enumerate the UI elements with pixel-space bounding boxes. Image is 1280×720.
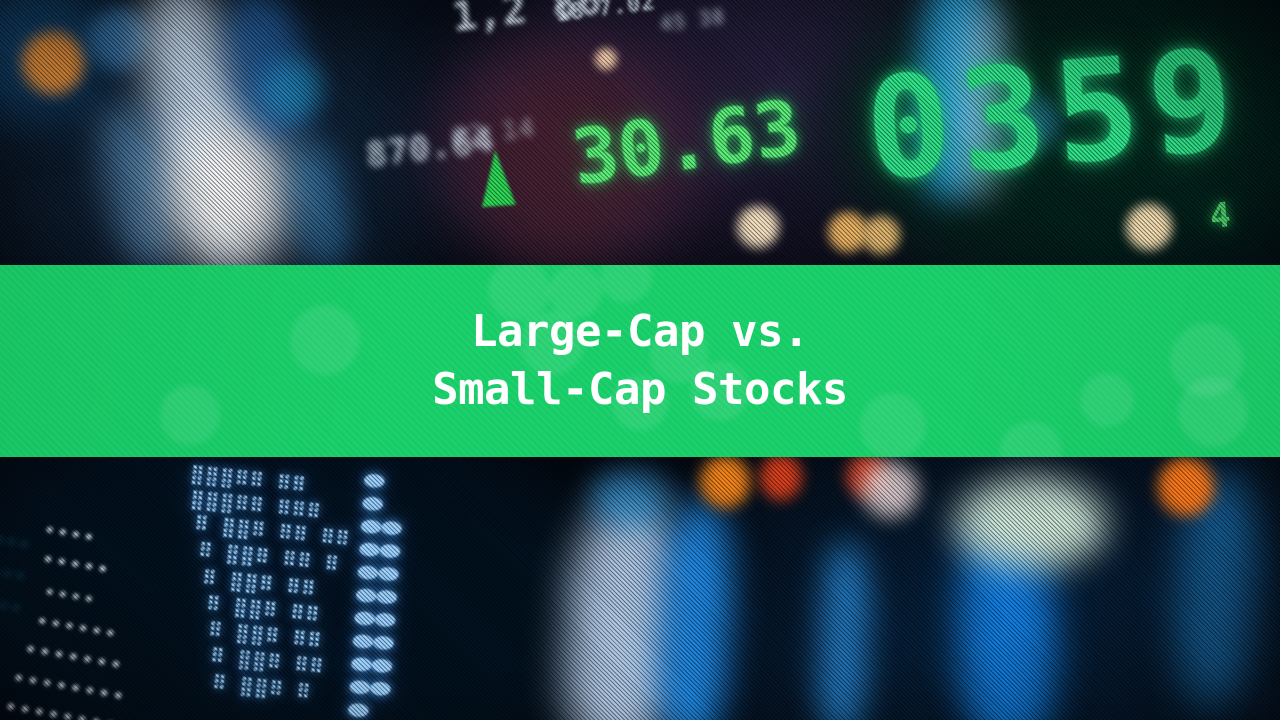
page-title: Large-Cap vs. Small-Cap Stocks <box>0 265 1280 457</box>
bokeh-white-dot-2 <box>737 206 779 248</box>
bokeh-white-dot-3 <box>1126 204 1172 250</box>
city-bokeh-orange-1 <box>700 456 750 508</box>
city-bokeh-orange-2 <box>1158 458 1214 516</box>
city-bokeh-white-1 <box>956 478 1106 568</box>
bokeh-orange-dot-2 <box>862 216 900 254</box>
city-bokeh-blue-1 <box>590 470 670 530</box>
bokeh-cyan-1 <box>262 60 322 120</box>
title-line-2: Small-Cap Stocks <box>432 362 848 418</box>
bokeh-white-dot-1 <box>595 48 617 70</box>
city-bokeh-red-1 <box>760 454 802 500</box>
bokeh-white-1 <box>168 120 288 270</box>
city-bokeh-white-2 <box>862 462 918 518</box>
title-banner: Large-Cap vs. Small-Cap Stocks <box>0 265 1280 457</box>
led-readout-0359: 0359 <box>860 18 1250 213</box>
screenshot-canvas: 870.64 1,2 86 18 7.02 45 38 92 14 30.63 … <box>0 0 1280 720</box>
up-triangle-icon <box>478 149 516 207</box>
title-line-1: Large-Cap vs. <box>471 304 809 360</box>
bokeh-blue-2 <box>88 8 150 70</box>
bokeh-orange-1 <box>22 32 84 94</box>
led-readout-small-right: 4 <box>1208 195 1232 237</box>
